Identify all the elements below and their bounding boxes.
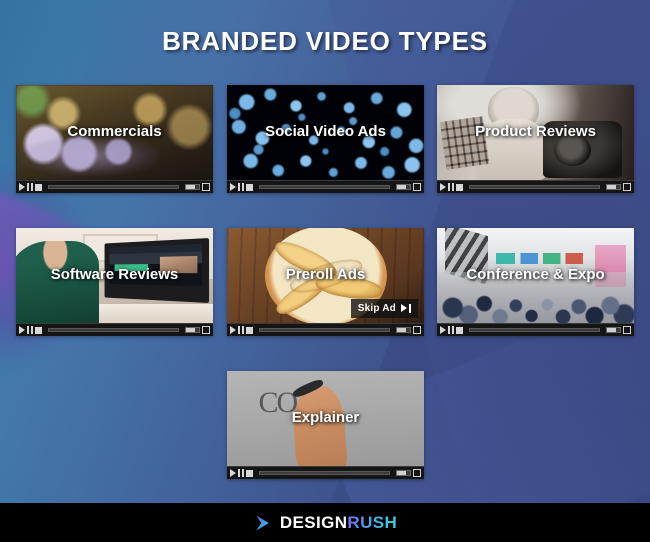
- progress-track[interactable]: [469, 185, 600, 189]
- progress-track[interactable]: [469, 328, 600, 332]
- volume-icon[interactable]: [396, 327, 411, 333]
- progress-track[interactable]: [259, 471, 390, 475]
- chevron-play-icon: [253, 513, 273, 533]
- progress-track[interactable]: [48, 328, 179, 332]
- fullscreen-icon[interactable]: [413, 469, 421, 477]
- card-label: Social Video Ads: [227, 123, 424, 140]
- video-controls[interactable]: [16, 323, 213, 336]
- fullscreen-icon[interactable]: [623, 183, 631, 191]
- pause-icon[interactable]: [448, 326, 454, 334]
- art-detail-signs: [496, 253, 583, 264]
- logo-text-design: DESIGN: [280, 513, 348, 533]
- infographic-canvas: BRANDED VIDEO TYPES Commercials Social V…: [0, 0, 650, 542]
- designrush-logo: DESIGNRUSH: [280, 513, 397, 533]
- pause-icon[interactable]: [238, 326, 244, 334]
- video-controls[interactable]: [16, 180, 213, 193]
- video-card-product-reviews[interactable]: Product Reviews: [437, 85, 634, 193]
- volume-icon[interactable]: [606, 184, 621, 190]
- video-card-grid: Commercials Social Video Ads: [0, 0, 650, 542]
- video-card-commercials[interactable]: Commercials: [16, 85, 213, 193]
- card-label: Conference & Expo: [437, 266, 634, 283]
- pause-icon[interactable]: [448, 183, 454, 191]
- stop-icon[interactable]: [246, 184, 253, 191]
- progress-track[interactable]: [48, 185, 179, 189]
- video-card-conference-expo[interactable]: Conference & Expo: [437, 228, 634, 336]
- skip-ad-button[interactable]: Skip Ad: [351, 299, 418, 318]
- fullscreen-icon[interactable]: [202, 183, 210, 191]
- play-icon[interactable]: [440, 326, 446, 334]
- footer-bar: DESIGNRUSH: [0, 503, 650, 542]
- volume-icon[interactable]: [185, 184, 200, 190]
- stop-icon[interactable]: [456, 327, 463, 334]
- card-label: Explainer: [227, 409, 424, 426]
- volume-icon[interactable]: [185, 327, 200, 333]
- video-card-preroll-ads[interactable]: Preroll Ads Skip Ad: [227, 228, 424, 336]
- stop-icon[interactable]: [35, 327, 42, 334]
- fullscreen-icon[interactable]: [413, 183, 421, 191]
- play-icon[interactable]: [440, 183, 446, 191]
- pause-icon[interactable]: [238, 469, 244, 477]
- play-icon[interactable]: [19, 326, 25, 334]
- volume-icon[interactable]: [396, 470, 411, 476]
- volume-icon[interactable]: [606, 327, 621, 333]
- fullscreen-icon[interactable]: [202, 326, 210, 334]
- card-label: Product Reviews: [437, 123, 634, 140]
- progress-track[interactable]: [259, 185, 390, 189]
- card-label: Commercials: [16, 123, 213, 140]
- logo-text-rush: RUSH: [347, 513, 397, 533]
- pause-icon[interactable]: [27, 183, 33, 191]
- play-icon[interactable]: [230, 183, 236, 191]
- stop-icon[interactable]: [246, 327, 253, 334]
- card-label: Preroll Ads: [227, 266, 424, 283]
- fullscreen-icon[interactable]: [413, 326, 421, 334]
- pause-icon[interactable]: [27, 326, 33, 334]
- video-card-social-video-ads[interactable]: Social Video Ads: [227, 85, 424, 193]
- video-controls[interactable]: [227, 466, 424, 479]
- video-controls[interactable]: [437, 180, 634, 193]
- stop-icon[interactable]: [35, 184, 42, 191]
- stop-icon[interactable]: [456, 184, 463, 191]
- play-icon[interactable]: [230, 469, 236, 477]
- video-controls[interactable]: [227, 323, 424, 336]
- play-icon[interactable]: [19, 183, 25, 191]
- fullscreen-icon[interactable]: [623, 326, 631, 334]
- pause-icon[interactable]: [238, 183, 244, 191]
- video-controls[interactable]: [227, 180, 424, 193]
- card-label: Software Reviews: [16, 266, 213, 283]
- volume-icon[interactable]: [396, 184, 411, 190]
- video-controls[interactable]: [437, 323, 634, 336]
- stop-icon[interactable]: [246, 470, 253, 477]
- play-icon[interactable]: [230, 326, 236, 334]
- skip-ad-label: Skip Ad: [358, 303, 396, 314]
- video-card-explainer[interactable]: CO Explainer: [227, 371, 424, 479]
- video-card-software-reviews[interactable]: Software Reviews: [16, 228, 213, 336]
- progress-track[interactable]: [259, 328, 390, 332]
- skip-forward-icon: [401, 304, 411, 313]
